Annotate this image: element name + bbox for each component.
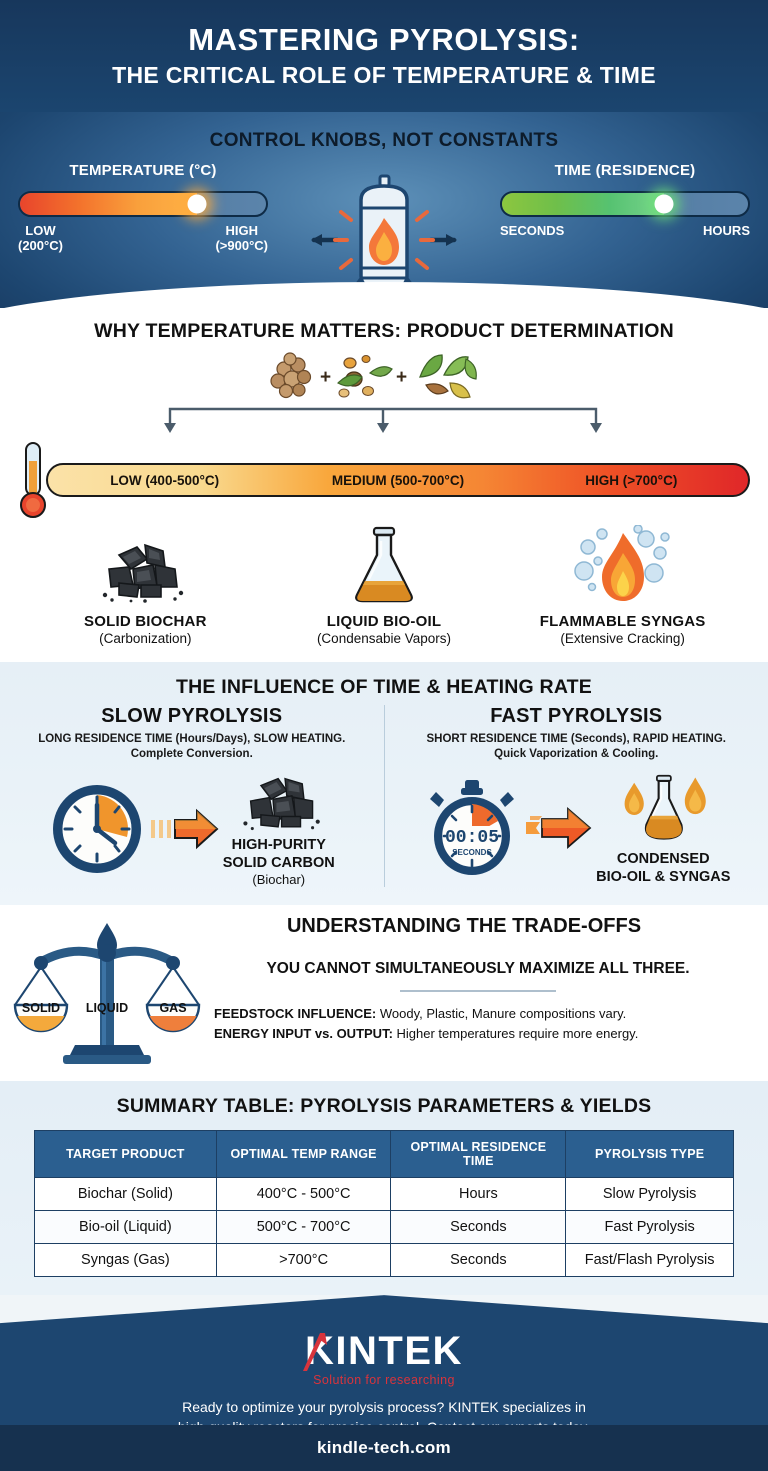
header-title-line2: THE CRITICAL ROLE OF TEMPERATURE & TIME — [112, 62, 656, 89]
row2-time: Seconds — [391, 1244, 566, 1277]
time-slider-handle[interactable] — [655, 195, 674, 214]
scale-pan-label-liquid: LIQUID — [86, 1001, 128, 1015]
oil-droplets-flask-icon — [615, 770, 711, 846]
pyrolysis-comparison: SLOW PYROLYSIS LONG RESIDENCE TIME (Hour… — [0, 705, 768, 887]
reactor-flame-icon — [324, 176, 444, 306]
temperature-slider-fill — [20, 193, 197, 215]
slow-pyrolysis-panel: SLOW PYROLYSIS LONG RESIDENCE TIME (Hour… — [0, 705, 385, 887]
row1-type: Fast Pyrolysis — [566, 1211, 734, 1244]
stopwatch-icon: 00:05 SECONDS — [422, 778, 522, 878]
slow-pyrolysis-result: HIGH-PURITY SOLID CARBON (Biochar) — [223, 770, 335, 887]
tradeoffs-section: SOLID LIQUID GAS UNDERSTANDING THE TRADE… — [0, 905, 768, 1081]
row2-product: Syngas (Gas) — [35, 1244, 217, 1277]
kintek-arrow-icon — [301, 1327, 335, 1373]
row0-product: Biochar (Solid) — [35, 1178, 217, 1211]
table-row: Bio-oil (Liquid) 500°C - 700°C Seconds F… — [35, 1211, 734, 1244]
row1-time: Seconds — [391, 1211, 566, 1244]
table-header-temp-range: OPTIMAL TEMP RANGE — [216, 1131, 391, 1178]
svg-text:+: + — [320, 367, 331, 388]
temperature-slider[interactable] — [18, 191, 268, 217]
slow-result-line3: (Biochar) — [223, 872, 335, 887]
time-section-title: THE INFLUENCE OF TIME & HEATING RATE — [0, 676, 768, 699]
temperature-knob: TEMPERATURE (°C) LOW (200°C) HIGH (>900°… — [18, 162, 268, 254]
time-slider[interactable] — [500, 191, 750, 217]
product-syngas-name: FLAMMABLE SYNGAS — [518, 613, 728, 630]
slow-pyrolysis-sub-line2: Complete Conversion. — [8, 747, 376, 762]
flame-bubbles-icon — [518, 527, 728, 605]
product-biooil: LIQUID BIO-OIL (Condensabie Vapors) — [279, 527, 489, 646]
temperature-high-label: HIGH — [215, 224, 268, 239]
slow-pyrolysis-title: SLOW PYROLYSIS — [8, 705, 376, 728]
temperature-knob-label: TEMPERATURE (°C) — [18, 162, 268, 179]
footer-website-bar[interactable]: kindle-tech.com — [0, 1425, 768, 1471]
feedstock-row: + + — [0, 349, 768, 405]
scale-pan-label-solid: SOLID — [22, 1001, 60, 1015]
fast-pyrolysis-sub-line1: SHORT RESIDENCE TIME (Seconds), RAPID HE… — [393, 732, 761, 747]
tradeoffs-note-feedstock-label: FEEDSTOCK INFLUENCE: — [214, 1006, 376, 1021]
kintek-logo[interactable]: KINTEK Solution for researching — [305, 1331, 463, 1387]
temperature-gradient-band: LOW (400-500°C) MEDIUM (500-700°C) HIGH … — [46, 463, 750, 497]
fast-pyrolysis-flow: 00:05 SECONDS — [393, 770, 761, 886]
tradeoffs-title: UNDERSTANDING THE TRADE-OFFS — [186, 915, 742, 938]
temp-band-medium: MEDIUM (500-700°C) — [281, 465, 514, 495]
time-left-label: SECONDS — [500, 224, 564, 239]
tradeoffs-note-feedstock: FEEDSTOCK INFLUENCE: Woody, Plastic, Man… — [214, 1004, 742, 1024]
row2-temp: >700°C — [216, 1244, 391, 1277]
row1-product: Bio-oil (Liquid) — [35, 1211, 217, 1244]
temperature-low-value: (200°C) — [18, 239, 63, 254]
coal-chunks-icon — [231, 770, 327, 832]
svg-text:+: + — [396, 367, 407, 388]
table-header-target-product: TARGET PRODUCT — [35, 1131, 217, 1178]
product-biochar-name: SOLID BIOCHAR — [40, 613, 250, 630]
temperature-low-label: LOW — [18, 224, 63, 239]
kintek-logo-tagline: Solution for researching — [305, 1373, 463, 1387]
summary-table: TARGET PRODUCT OPTIMAL TEMP RANGE OPTIMA… — [34, 1130, 734, 1277]
reactor-diagram — [289, 162, 479, 306]
temperature-band-row: LOW (400-500°C) MEDIUM (500-700°C) HIGH … — [0, 441, 768, 519]
table-row: Biochar (Solid) 400°C - 500°C Hours Slow… — [35, 1178, 734, 1211]
product-biochar-note: (Carbonization) — [40, 631, 250, 646]
time-slider-fill — [502, 193, 664, 215]
time-knob: TIME (RESIDENCE) SECONDS HOURS — [500, 162, 750, 239]
temperature-section: WHY TEMPERATURE MATTERS: PRODUCT DETERMI… — [0, 308, 768, 662]
slow-pyrolysis-sub-line1: LONG RESIDENCE TIME (Hours/Days), SLOW H… — [8, 732, 376, 747]
table-header-pyrolysis-type: PYROLYSIS TYPE — [566, 1131, 734, 1178]
temperature-section-title: WHY TEMPERATURE MATTERS: PRODUCT DETERMI… — [0, 320, 768, 343]
fast-pyrolysis-result: CONDENSED BIO-OIL & SYNGAS — [596, 770, 730, 886]
time-heating-section: THE INFLUENCE OF TIME & HEATING RATE SLO… — [0, 662, 768, 905]
product-biochar: SOLID BIOCHAR (Carbonization) — [40, 527, 250, 646]
footer-cta-line1: Ready to optimize your pyrolysis process… — [178, 1397, 590, 1417]
temperature-slider-endpoints: LOW (200°C) HIGH (>900°C) — [18, 224, 268, 254]
balance-scale-icon: SOLID LIQUID GAS — [0, 915, 214, 1067]
feedstock-connector-arrows — [0, 403, 768, 437]
tradeoffs-note-feedstock-text: Woody, Plastic, Manure compositions vary… — [376, 1006, 626, 1021]
time-knob-label: TIME (RESIDENCE) — [500, 162, 750, 179]
time-right-label: HOURS — [703, 224, 750, 239]
footer-website-url: kindle-tech.com — [317, 1438, 451, 1458]
product-syngas-note: (Extensive Cracking) — [518, 631, 728, 646]
flask-oil-icon — [279, 527, 489, 605]
fast-arrow-icon — [526, 804, 592, 852]
tradeoffs-body: UNDERSTANDING THE TRADE-OFFS YOU CANNOT … — [214, 915, 768, 1044]
fast-pyrolysis-subtitle: SHORT RESIDENCE TIME (Seconds), RAPID HE… — [393, 732, 761, 762]
temp-band-high: HIGH (>700°C) — [515, 465, 748, 495]
summary-table-title: SUMMARY TABLE: PYROLYSIS PARAMETERS & YI… — [0, 1095, 768, 1118]
fast-pyrolysis-sub-line2: Quick Vaporization & Cooling. — [393, 747, 761, 762]
table-header-row: TARGET PRODUCT OPTIMAL TEMP RANGE OPTIMA… — [35, 1131, 734, 1178]
tradeoffs-headline: YOU CANNOT SIMULTANEOUSLY MAXIMIZE ALL T… — [214, 960, 742, 978]
slow-result-line1: HIGH-PURITY — [223, 837, 335, 854]
control-knobs-title: CONTROL KNOBS, NOT CONSTANTS — [0, 112, 768, 152]
summary-table-section: SUMMARY TABLE: PYROLYSIS PARAMETERS & YI… — [0, 1081, 768, 1295]
stopwatch-time: 00:05 — [445, 828, 499, 848]
row0-temp: 400°C - 500°C — [216, 1178, 391, 1211]
row2-type: Fast/Flash Pyrolysis — [566, 1244, 734, 1277]
page-header: MASTERING PYROLYSIS: THE CRITICAL ROLE O… — [0, 0, 768, 112]
row0-time: Hours — [391, 1178, 566, 1211]
temperature-slider-handle[interactable] — [188, 195, 207, 214]
fast-pyrolysis-title: FAST PYROLYSIS — [393, 705, 761, 728]
table-row: Syngas (Gas) >700°C Seconds Fast/Flash P… — [35, 1244, 734, 1277]
slow-pyrolysis-subtitle: LONG RESIDENCE TIME (Hours/Days), SLOW H… — [8, 732, 376, 762]
product-biooil-note: (Condensabie Vapors) — [279, 631, 489, 646]
fast-result-line1: CONDENSED — [596, 851, 730, 868]
row1-temp: 500°C - 700°C — [216, 1211, 391, 1244]
header-title-line1: MASTERING PYROLYSIS: — [188, 23, 580, 57]
scale-pan-label-gas: GAS — [159, 1001, 186, 1015]
slow-pyrolysis-flow: HIGH-PURITY SOLID CARBON (Biochar) — [8, 770, 376, 887]
table-header-residence-time: OPTIMAL RESIDENCE TIME — [391, 1131, 566, 1178]
stopwatch-unit: SECONDS — [452, 848, 492, 857]
infographic-page: MASTERING PYROLYSIS: THE CRITICAL ROLE O… — [0, 0, 768, 1376]
fast-pyrolysis-panel: FAST PYROLYSIS SHORT RESIDENCE TIME (Sec… — [385, 705, 768, 887]
row0-type: Slow Pyrolysis — [566, 1178, 734, 1211]
tradeoffs-note-energy-text: Higher temperatures require more energy. — [393, 1026, 638, 1041]
page-footer: KINTEK Solution for researching Ready to… — [0, 1295, 768, 1471]
biomass-feedstock-icon: + + — [254, 349, 514, 405]
tradeoffs-note-energy: ENERGY INPUT vs. OUTPUT: Higher temperat… — [214, 1024, 742, 1044]
product-syngas: FLAMMABLE SYNGAS (Extensive Cracking) — [518, 527, 728, 646]
temp-band-low: LOW (400-500°C) — [48, 465, 281, 495]
control-knobs-section: CONTROL KNOBS, NOT CONSTANTS TEMPERATURE… — [0, 112, 768, 308]
control-knobs-row: TEMPERATURE (°C) LOW (200°C) HIGH (>900°… — [0, 152, 768, 306]
slow-arrow-icon — [149, 804, 219, 854]
product-biooil-name: LIQUID BIO-OIL — [279, 613, 489, 630]
fast-result-line2: BIO-OIL & SYNGAS — [596, 869, 730, 886]
temperature-high-value: (>900°C) — [215, 239, 268, 254]
time-slider-endpoints: SECONDS HOURS — [500, 224, 750, 239]
analog-clock-icon — [49, 781, 145, 877]
product-outcomes-row: SOLID BIOCHAR (Carbonization) LIQUID BIO… — [0, 519, 768, 646]
thermometer-icon — [18, 441, 44, 519]
coal-chunks-icon — [40, 527, 250, 605]
slow-result-line2: SOLID CARBON — [223, 855, 335, 872]
tradeoffs-note-energy-label: ENERGY INPUT vs. OUTPUT: — [214, 1026, 393, 1041]
tradeoffs-divider — [400, 990, 556, 992]
